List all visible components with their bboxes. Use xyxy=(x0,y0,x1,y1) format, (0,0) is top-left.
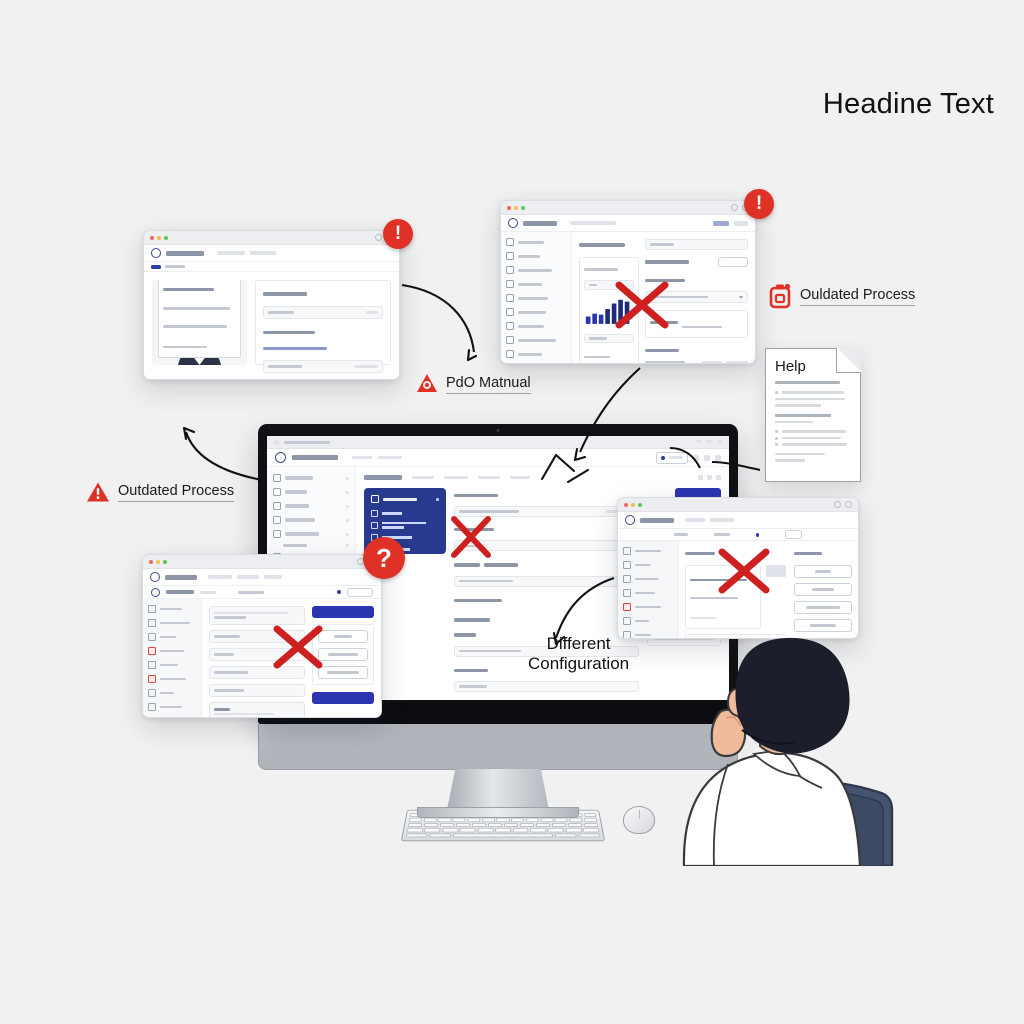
close-icon[interactable] xyxy=(150,236,154,240)
browser-tabbar[interactable] xyxy=(267,436,729,449)
form-row[interactable] xyxy=(209,648,305,661)
tooltip-card xyxy=(645,310,748,338)
badge-monitor-question[interactable]: ? xyxy=(363,537,405,579)
badge-profile-window[interactable]: ! xyxy=(383,219,413,249)
catalog-window[interactable] xyxy=(617,497,859,639)
annotation-pdo-manual: PdO Matnual xyxy=(416,372,531,396)
field-label-3 xyxy=(645,349,679,352)
app-header xyxy=(144,245,399,262)
annotation-different-configuration: Different Configuration xyxy=(528,634,629,674)
profile-window[interactable] xyxy=(143,230,400,380)
nav-item-2[interactable] xyxy=(250,251,276,255)
view-toggle-1[interactable] xyxy=(698,475,703,480)
form-row[interactable] xyxy=(209,606,305,625)
sidebar-item[interactable] xyxy=(506,252,566,260)
form-input[interactable] xyxy=(454,506,639,517)
help-document-body xyxy=(775,381,851,466)
page-heading xyxy=(364,475,402,480)
tab-2[interactable] xyxy=(444,476,468,479)
app-header xyxy=(501,215,755,232)
side-button[interactable] xyxy=(794,583,852,596)
section-subtitle xyxy=(200,591,216,594)
window-titlebar[interactable] xyxy=(143,555,381,569)
sidebar-item[interactable] xyxy=(273,502,349,510)
sidebar-item[interactable] xyxy=(148,605,196,613)
sidebar-item[interactable] xyxy=(623,631,673,639)
form-label xyxy=(454,633,476,636)
annotation-label: Outdated Process xyxy=(118,483,234,502)
side-button[interactable] xyxy=(794,619,852,632)
breadcrumb-item[interactable] xyxy=(378,456,402,459)
form-row[interactable] xyxy=(209,684,305,697)
form-label xyxy=(454,528,494,531)
header-action-button[interactable] xyxy=(713,221,729,226)
sidebar-item[interactable] xyxy=(506,294,566,302)
triangle-alert-icon xyxy=(416,372,438,396)
form-input[interactable] xyxy=(454,540,639,551)
maximize-icon[interactable] xyxy=(163,560,167,564)
illustration-canvas: Headine Text xyxy=(0,0,1024,1024)
form-field-2[interactable] xyxy=(263,360,383,373)
minimize-icon[interactable] xyxy=(156,560,160,564)
annotation-label: Ouldated Process xyxy=(800,287,915,306)
page-fold-corner xyxy=(836,348,861,373)
side-button[interactable] xyxy=(794,565,852,578)
breadcrumb-active[interactable] xyxy=(151,265,161,269)
subnav-button[interactable] xyxy=(785,530,802,539)
breadcrumb-item[interactable] xyxy=(352,456,372,459)
form-row[interactable] xyxy=(209,702,305,718)
person-illustration xyxy=(676,636,908,866)
minimize-icon[interactable] xyxy=(514,206,518,210)
section-icon xyxy=(151,588,160,597)
annotation-label-line1: Different xyxy=(528,634,629,654)
sidebar-item[interactable] xyxy=(506,266,566,274)
form-window[interactable] xyxy=(142,554,382,718)
bar-chart xyxy=(584,295,634,325)
list-item[interactable] xyxy=(685,565,761,629)
sidebar-item[interactable] xyxy=(506,280,566,288)
app-logo-icon xyxy=(508,218,518,228)
form-label xyxy=(454,618,490,621)
avatar-panel xyxy=(152,280,247,365)
form-input[interactable] xyxy=(454,576,639,587)
view-toggle-3[interactable] xyxy=(716,475,721,480)
tab-3[interactable] xyxy=(478,476,500,479)
section-title xyxy=(685,552,715,555)
maximize-icon[interactable] xyxy=(164,236,168,240)
form-section-label xyxy=(263,292,307,296)
sidebar[interactable] xyxy=(618,541,679,639)
form-row[interactable] xyxy=(209,666,305,679)
wireless-mouse[interactable] xyxy=(623,806,655,834)
shirt xyxy=(684,753,860,866)
clipboard-alert-icon xyxy=(768,283,792,309)
monitor-stand xyxy=(447,769,549,810)
avatar-caption-card xyxy=(158,280,241,358)
app-title-placeholder xyxy=(165,575,197,580)
nav-item-1[interactable] xyxy=(217,251,245,255)
sidebar-item[interactable] xyxy=(273,474,349,482)
sidebar-item[interactable] xyxy=(148,619,196,627)
nav-item[interactable] xyxy=(237,575,259,578)
subnav-icon[interactable] xyxy=(756,533,758,537)
form-label xyxy=(454,669,488,672)
app-header xyxy=(267,449,729,467)
group-button-2[interactable] xyxy=(318,648,368,661)
messages-icon[interactable] xyxy=(704,455,710,461)
sidebar-item-active[interactable] xyxy=(148,675,196,683)
nav-item[interactable] xyxy=(685,518,705,521)
secondary-action[interactable] xyxy=(718,257,748,267)
close-icon[interactable] xyxy=(718,440,722,444)
section-title xyxy=(794,552,822,555)
chart-card xyxy=(579,257,639,364)
app-header xyxy=(618,512,858,529)
app-title-placeholder xyxy=(292,455,338,460)
select-input[interactable] xyxy=(645,291,748,303)
monitor-chin-bar xyxy=(258,724,738,770)
annotation-label-line2: Configuration xyxy=(528,654,629,674)
search-box[interactable] xyxy=(656,452,688,464)
sidebar-item[interactable] xyxy=(148,703,196,711)
app-header xyxy=(143,569,381,586)
sidebar-item[interactable] xyxy=(623,575,673,583)
warning-triangle-icon xyxy=(86,481,110,503)
profile-icon[interactable] xyxy=(715,455,721,461)
header-action-button-2[interactable] xyxy=(734,221,748,226)
search-icon[interactable] xyxy=(661,456,665,460)
app-logo-icon xyxy=(275,452,286,463)
sidebar-item[interactable] xyxy=(506,238,566,246)
sidebar-item[interactable] xyxy=(273,488,349,496)
annotation-outdated-process-left: Outdated Process xyxy=(86,481,234,503)
field-label-2 xyxy=(645,279,685,282)
tab-4[interactable] xyxy=(510,476,530,479)
tab-icon[interactable] xyxy=(274,440,279,445)
sidebar-item[interactable] xyxy=(623,589,673,597)
window-controls[interactable] xyxy=(834,501,852,508)
field-label xyxy=(645,260,689,263)
sidebar-item-active[interactable] xyxy=(623,603,673,611)
minimize-icon[interactable] xyxy=(157,236,161,240)
tab-1[interactable] xyxy=(412,476,434,479)
form-row[interactable] xyxy=(209,630,305,643)
page-title: Headine Text xyxy=(823,88,994,121)
dashboard-window[interactable] xyxy=(500,200,756,364)
webcam-icon xyxy=(497,429,500,432)
sidebar-item[interactable] xyxy=(506,350,566,358)
form-field-1[interactable] xyxy=(263,306,383,319)
sidebar-item[interactable] xyxy=(148,661,196,669)
form-label xyxy=(454,494,498,497)
window-titlebar[interactable] xyxy=(618,498,858,512)
app-title-placeholder xyxy=(166,251,204,256)
notification-icon[interactable] xyxy=(693,455,699,461)
side-button[interactable] xyxy=(794,601,852,614)
form-section-label-2 xyxy=(263,331,315,334)
group-button-1[interactable] xyxy=(318,630,368,643)
sidebar-item[interactable] xyxy=(273,530,349,538)
sidebar[interactable] xyxy=(501,232,572,364)
filter-chip[interactable] xyxy=(238,591,264,594)
minimize-icon[interactable] xyxy=(696,440,701,443)
header-icon[interactable] xyxy=(337,590,341,594)
panel-title xyxy=(579,243,625,247)
annotation-label: PdO Matnual xyxy=(446,375,531,394)
sidebar-subitem[interactable] xyxy=(273,544,349,547)
monitor-foot xyxy=(417,807,579,818)
form-label xyxy=(484,563,518,566)
maximize-icon[interactable] xyxy=(521,206,525,210)
close-icon[interactable] xyxy=(507,206,511,210)
card-icon xyxy=(371,495,379,503)
primary-button-top[interactable] xyxy=(312,606,374,618)
header-button[interactable] xyxy=(347,588,373,597)
maximize-icon[interactable] xyxy=(638,503,642,507)
breadcrumb-item[interactable] xyxy=(165,265,185,269)
search-input[interactable] xyxy=(645,239,748,250)
tab-title-placeholder[interactable] xyxy=(284,441,330,444)
sidebar-item[interactable] xyxy=(506,336,566,344)
minimize-icon[interactable] xyxy=(631,503,635,507)
group-button-3[interactable] xyxy=(318,666,368,679)
app-title-placeholder xyxy=(640,518,674,523)
badge-dashboard-window[interactable]: ! xyxy=(744,189,774,219)
sidebar-item[interactable] xyxy=(148,633,196,641)
app-logo-icon xyxy=(625,515,635,525)
sidebar-item[interactable] xyxy=(623,561,673,569)
app-title-placeholder xyxy=(523,221,557,226)
close-icon[interactable] xyxy=(149,560,153,564)
window-titlebar[interactable] xyxy=(144,231,399,245)
sidebar-item[interactable] xyxy=(273,516,349,524)
button-group-card xyxy=(312,624,374,685)
section-title xyxy=(166,590,194,593)
nav-item[interactable] xyxy=(264,575,282,578)
maximize-icon[interactable] xyxy=(706,440,713,443)
arrow-left-label-to-monitor xyxy=(186,432,262,480)
app-logo-icon xyxy=(151,248,161,258)
subnav-item[interactable] xyxy=(674,533,688,536)
help-document-title: Help xyxy=(775,358,806,375)
window-titlebar[interactable] xyxy=(501,201,755,215)
sidebar-item[interactable] xyxy=(148,717,196,718)
view-toggle-2[interactable] xyxy=(707,475,712,480)
nav-item[interactable] xyxy=(710,518,734,521)
subnav-item[interactable] xyxy=(714,533,730,536)
sidebar-item[interactable] xyxy=(148,689,196,697)
app-logo-icon xyxy=(150,572,160,582)
sidebar-item[interactable] xyxy=(623,547,673,555)
form-input[interactable] xyxy=(454,681,639,692)
sidebar[interactable] xyxy=(143,599,202,718)
breadcrumb[interactable] xyxy=(570,221,616,224)
sidebar-item[interactable] xyxy=(506,322,566,330)
profile-form-panel xyxy=(255,280,391,365)
annotation-outdated-process-right: Ouldated Process xyxy=(768,283,915,309)
form-label xyxy=(454,563,480,566)
form-hint xyxy=(263,347,327,350)
primary-button-bottom[interactable] xyxy=(312,692,374,704)
sidebar-item[interactable] xyxy=(623,617,673,625)
close-icon[interactable] xyxy=(624,503,628,507)
nav-item[interactable] xyxy=(208,575,232,578)
sidebar-item-active[interactable] xyxy=(148,647,196,655)
help-document[interactable]: Help xyxy=(765,348,861,482)
form-label xyxy=(454,599,502,602)
arrow-profile-to-dashboard xyxy=(402,285,474,352)
sidebar-item[interactable] xyxy=(506,308,566,316)
